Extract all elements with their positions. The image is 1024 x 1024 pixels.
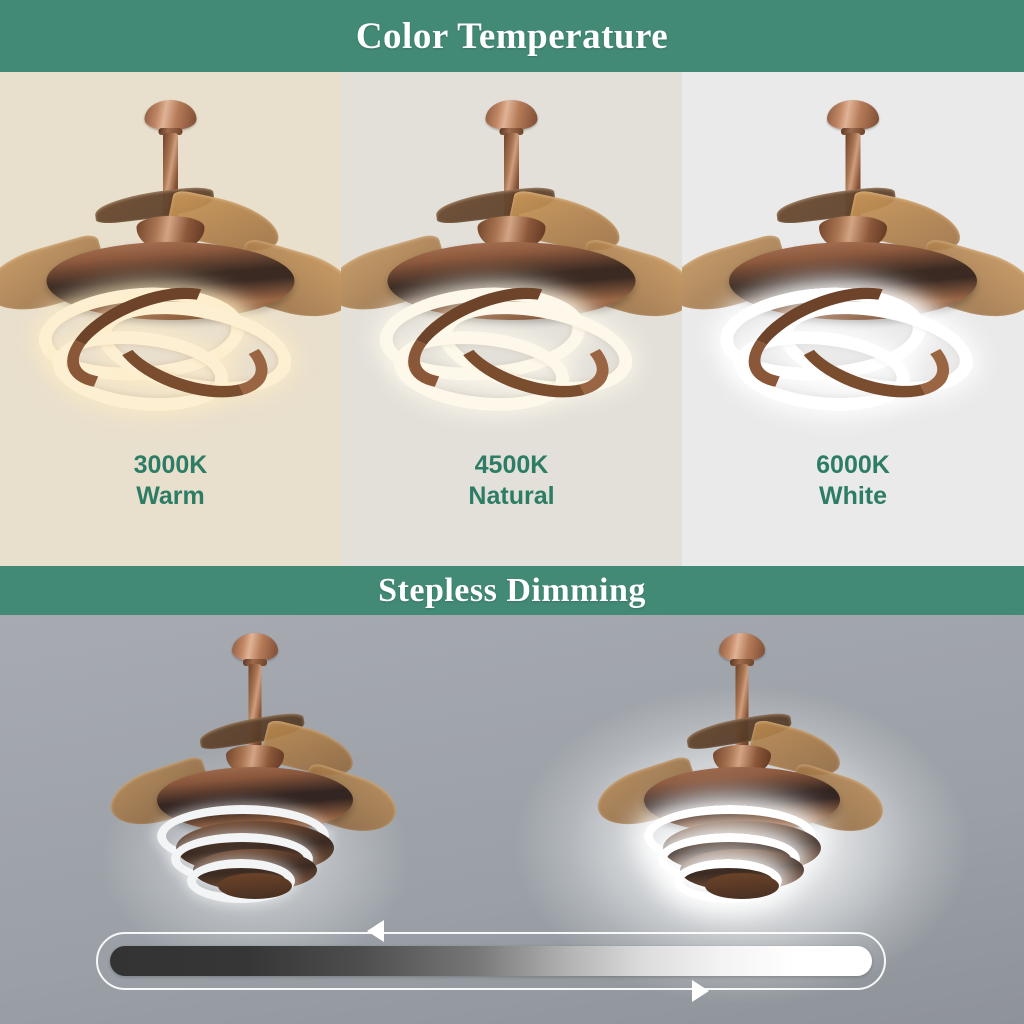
ceiling-fan-dim [105, 633, 405, 923]
color-temperature-label-6000k: 6000K White [682, 450, 1024, 511]
fan-bottom-cap [705, 873, 779, 899]
arrow-right-icon[interactable] [692, 980, 709, 1002]
arrow-left-icon[interactable] [367, 920, 384, 942]
color-temperature-panels: 3000K Warm [0, 72, 1024, 566]
color-temperature-label-4500k: 4500K Natural [341, 450, 682, 511]
ceiling-fan-3000k [0, 100, 341, 430]
stepless-dimming-banner: Stepless Dimming [0, 566, 1024, 615]
dimming-slider[interactable] [96, 932, 886, 990]
color-temperature-panel-3000k: 3000K Warm [0, 72, 341, 566]
kelvin-descr: Warm [0, 481, 341, 512]
fan-canopy [145, 100, 197, 130]
product-feature-infographic: Color Temperature [0, 0, 1024, 1024]
ceiling-fan-6000k [682, 100, 1024, 430]
color-temperature-title: Color Temperature [356, 15, 668, 58]
dimming-slider-track[interactable] [110, 946, 872, 976]
stepless-dimming-title: Stepless Dimming [378, 572, 646, 610]
fan-bottom-cap [218, 873, 292, 899]
color-temperature-panel-4500k: 4500K Natural [341, 72, 682, 566]
kelvin-value: 6000K [682, 450, 1024, 481]
fan-canopy [719, 633, 765, 661]
kelvin-value: 3000K [0, 450, 341, 481]
color-temperature-panel-6000k: 6000K White [682, 72, 1024, 566]
color-temperature-banner: Color Temperature [0, 0, 1024, 72]
kelvin-value: 4500K [341, 450, 682, 481]
fan-canopy [827, 100, 879, 130]
ceiling-fan-4500k [341, 100, 682, 430]
fan-canopy [486, 100, 538, 130]
kelvin-descr: Natural [341, 481, 682, 512]
fan-canopy [232, 633, 278, 661]
ceiling-fan-bright [592, 633, 892, 923]
kelvin-descr: White [682, 481, 1024, 512]
color-temperature-label-3000k: 3000K Warm [0, 450, 341, 511]
